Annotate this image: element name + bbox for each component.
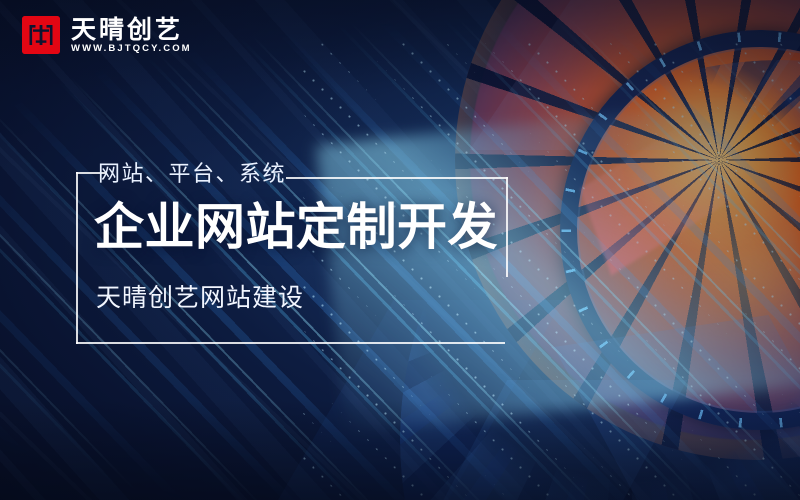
logo-text-block: 天晴创艺 WWW.BJTQCY.COM xyxy=(71,17,192,54)
promotional-banner: 天晴创艺 WWW.BJTQCY.COM 网站、平台、系统 企业网站定制开发 天晴… xyxy=(0,0,800,500)
tqcy-monogram-icon xyxy=(22,16,60,54)
headline-tagline: 天晴创艺网站建设 xyxy=(96,285,304,310)
logo-website-url: WWW.BJTQCY.COM xyxy=(71,44,192,54)
headline-title: 企业网站定制开发 xyxy=(94,202,498,252)
frame-right-rule xyxy=(506,177,508,277)
headline-block: 网站、平台、系统 企业网站定制开发 天晴创艺网站建设 xyxy=(76,172,508,344)
brand-logo[interactable]: 天晴创艺 WWW.BJTQCY.COM xyxy=(22,16,192,54)
headline-eyebrow: 网站、平台、系统 xyxy=(98,164,286,186)
logo-company-name: 天晴创艺 xyxy=(71,17,192,42)
frame-bottom-rule xyxy=(76,342,505,344)
frame-top-right-rule xyxy=(286,177,508,179)
frame-left-rule xyxy=(76,172,78,344)
